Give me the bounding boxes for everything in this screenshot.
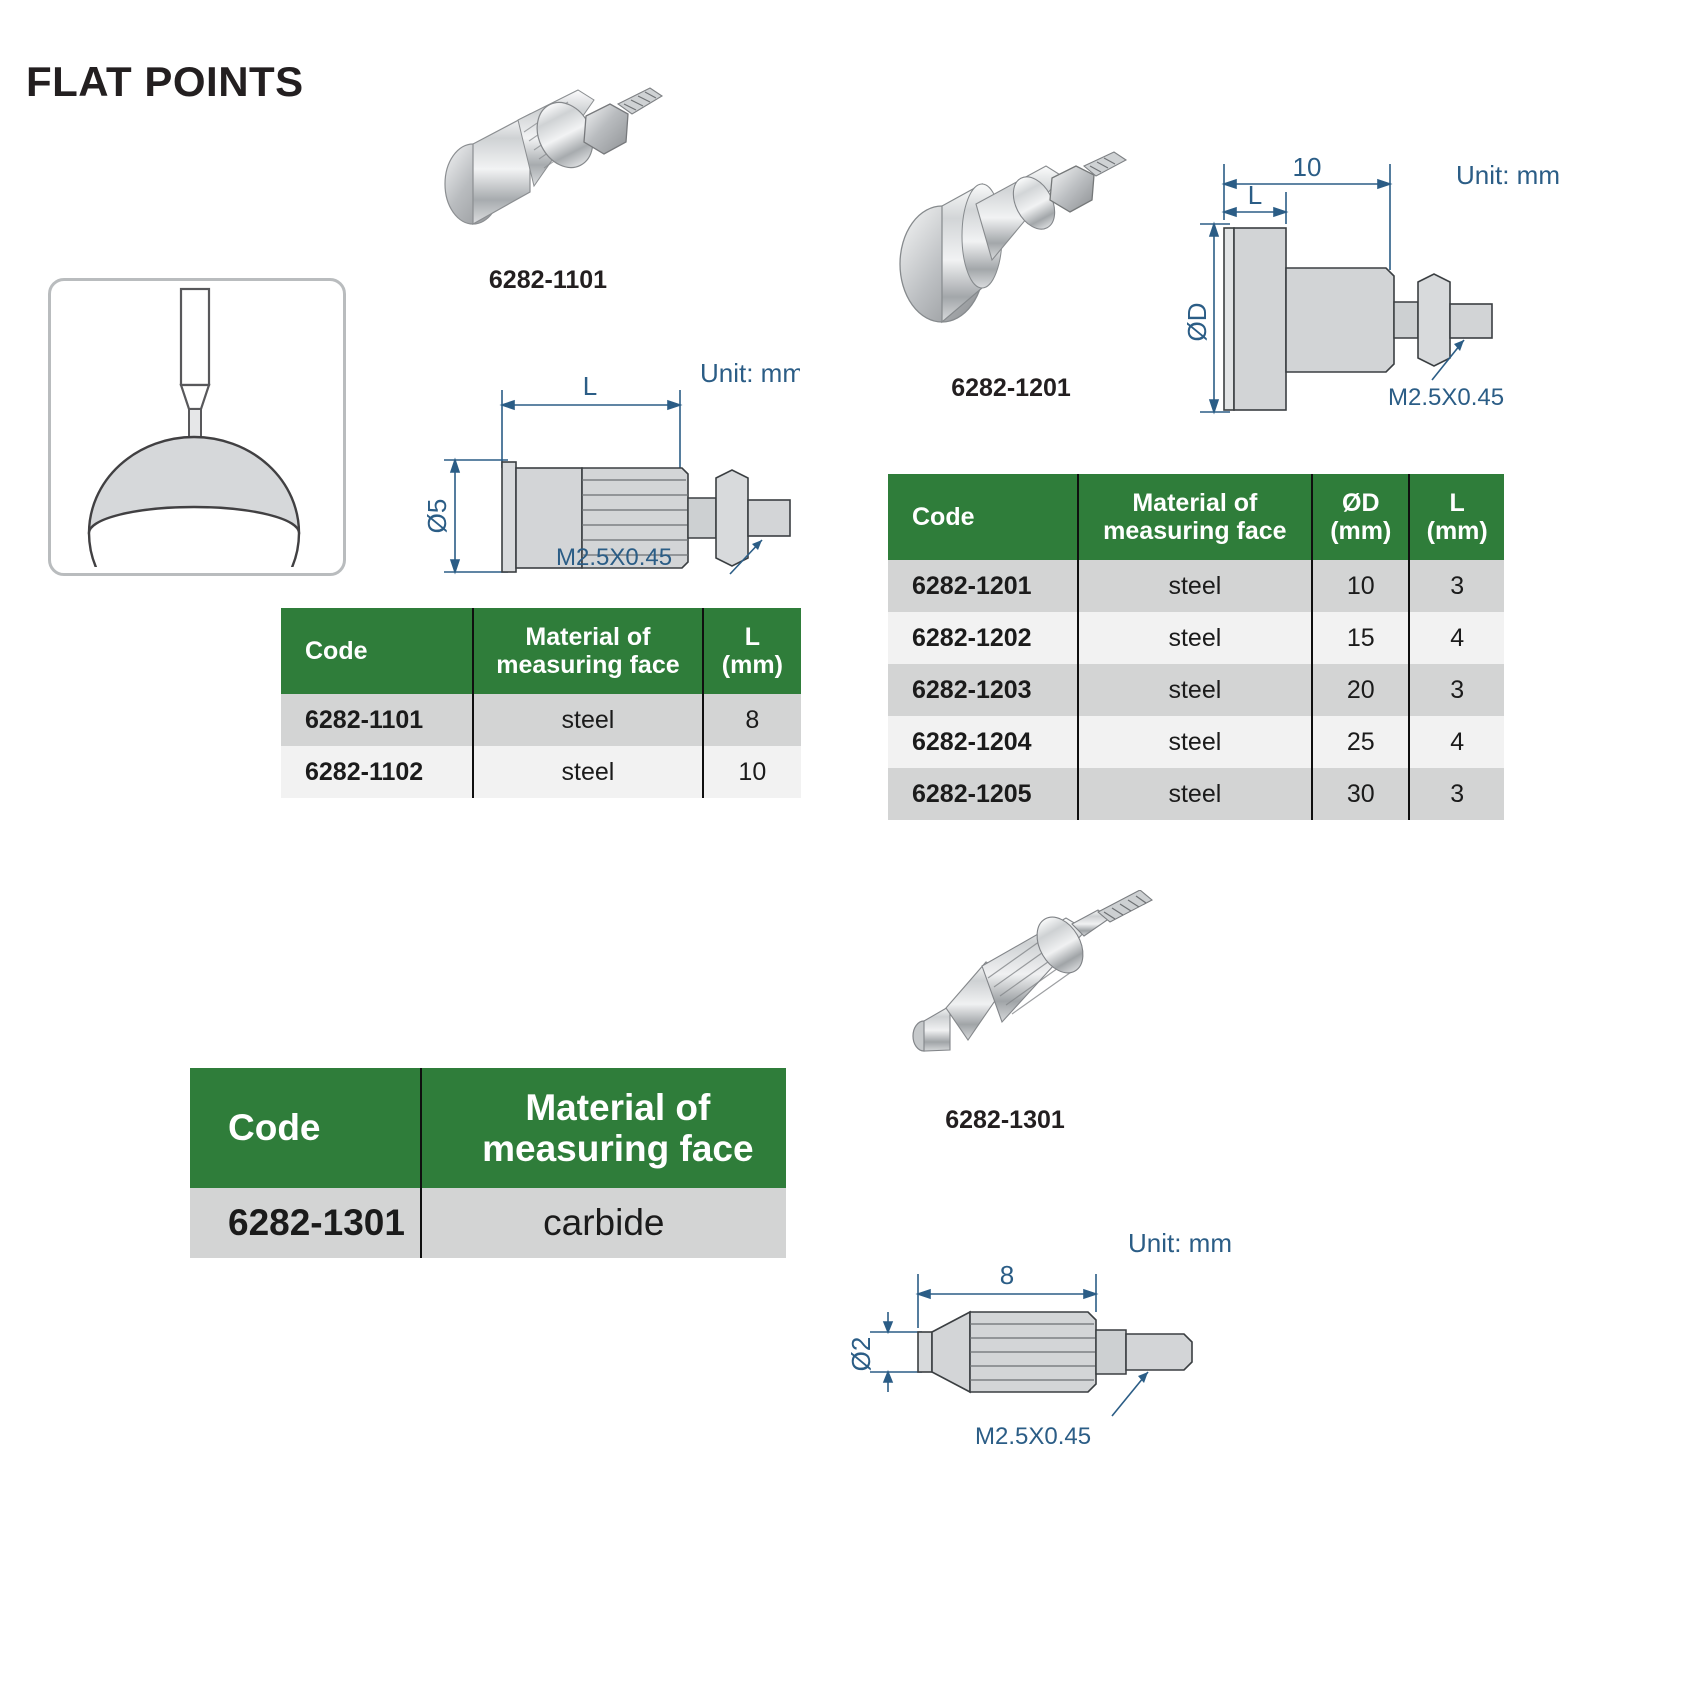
dim-label-diameter-1301: Ø2 [846, 1337, 876, 1372]
dim-label-L-1201: L [1248, 180, 1262, 210]
unit-label-1201: Unit: mm [1456, 160, 1560, 190]
table-row: 6282-1205 steel 30 3 [888, 768, 1504, 820]
cell-material: steel [1078, 560, 1313, 612]
cell-code: 6282-1102 [281, 746, 473, 798]
cell-material: steel [473, 694, 702, 746]
table-row: 6282-1203 steel 20 3 [888, 664, 1504, 716]
dim-label-L-1101: L [583, 371, 597, 401]
catalog-page: FLAT POINTS [0, 0, 1704, 1704]
page-title: FLAT POINTS [26, 58, 304, 106]
cell-material: steel [1078, 664, 1313, 716]
table-row: 6282-1101 steel 8 [281, 694, 801, 746]
dim-label-overall-1201: 10 [1293, 152, 1322, 182]
cell-material: carbide [421, 1188, 786, 1258]
table-row: 6282-1301 carbide [190, 1188, 786, 1258]
dim-label-diameter-1101: Ø5 [422, 499, 452, 534]
cell-material: steel [473, 746, 702, 798]
cell-l: 8 [703, 694, 801, 746]
col-header-material: Material of measuring face [473, 608, 702, 694]
cell-code: 6282-1201 [888, 560, 1078, 612]
col-header-material: Material of measuring face [1078, 474, 1313, 560]
cell-diameter: 10 [1312, 560, 1409, 612]
col-header-l: L (mm) [703, 608, 801, 694]
cell-code: 6282-1204 [888, 716, 1078, 768]
cell-l: 4 [1409, 612, 1504, 664]
product-photo-6282-1201 [890, 150, 1140, 350]
thread-label-1301: M2.5X0.45 [975, 1423, 1091, 1451]
cell-code: 6282-1301 [190, 1188, 421, 1258]
table-header-row: Code Material of measuring face [190, 1068, 786, 1188]
dim-label-diameter-1201: ØD [1182, 303, 1212, 342]
table-row: 6282-1102 steel 10 [281, 746, 801, 798]
table-header-row: Code Material of measuring face L (mm) [281, 608, 801, 694]
application-illustration-svg [51, 281, 337, 567]
product-photo-6282-1301 [890, 890, 1180, 1070]
cell-code: 6282-1202 [888, 612, 1078, 664]
technical-drawing-6282-1301: 8 Ø2 Unit: mm [840, 1220, 1260, 1450]
product-photo-6282-1101 [418, 80, 678, 250]
product-caption-6282-1301: 6282-1301 [860, 1106, 1150, 1135]
cell-diameter: 15 [1312, 612, 1409, 664]
cell-material: steel [1078, 716, 1313, 768]
cell-l: 3 [1409, 560, 1504, 612]
cell-material: steel [1078, 612, 1313, 664]
table-row: 6282-1202 steel 15 4 [888, 612, 1504, 664]
table-header-row: Code Material of measuring face ØD (mm) … [888, 474, 1504, 560]
cell-diameter: 20 [1312, 664, 1409, 716]
thread-label-1101: M2.5X0.45 [556, 544, 672, 572]
cell-diameter: 30 [1312, 768, 1409, 820]
col-header-code: Code [190, 1068, 421, 1188]
cell-code: 6282-1101 [281, 694, 473, 746]
product-caption-6282-1101: 6282-1101 [418, 266, 678, 295]
cell-l: 10 [703, 746, 801, 798]
application-illustration-box [48, 278, 346, 576]
cell-l: 4 [1409, 716, 1504, 768]
dim-label-length-1301: 8 [1000, 1260, 1014, 1290]
table-1200-series: Code Material of measuring face ØD (mm) … [888, 474, 1504, 820]
thread-label-1201: M2.5X0.45 [1388, 384, 1504, 412]
col-header-code: Code [888, 474, 1078, 560]
col-header-diameter: ØD (mm) [1312, 474, 1409, 560]
cell-code: 6282-1203 [888, 664, 1078, 716]
cell-code: 6282-1205 [888, 768, 1078, 820]
unit-label-1301: Unit: mm [1128, 1228, 1232, 1258]
cell-l: 3 [1409, 664, 1504, 716]
col-header-code: Code [281, 608, 473, 694]
col-header-material: Material of measuring face [421, 1068, 786, 1188]
cell-material: steel [1078, 768, 1313, 820]
cell-diameter: 25 [1312, 716, 1409, 768]
table-row: 6282-1204 steel 25 4 [888, 716, 1504, 768]
table-row: 6282-1201 steel 10 3 [888, 560, 1504, 612]
col-header-l: L (mm) [1409, 474, 1504, 560]
cell-l: 3 [1409, 768, 1504, 820]
table-1100-series: Code Material of measuring face L (mm) 6… [281, 608, 801, 798]
table-1300-series: Code Material of measuring face 6282-130… [190, 1068, 786, 1258]
unit-label-1101: Unit: mm [700, 358, 800, 388]
product-caption-6282-1201: 6282-1201 [866, 374, 1156, 403]
technical-drawing-6282-1201: 10 L ØD Unit: mm [1180, 140, 1580, 420]
